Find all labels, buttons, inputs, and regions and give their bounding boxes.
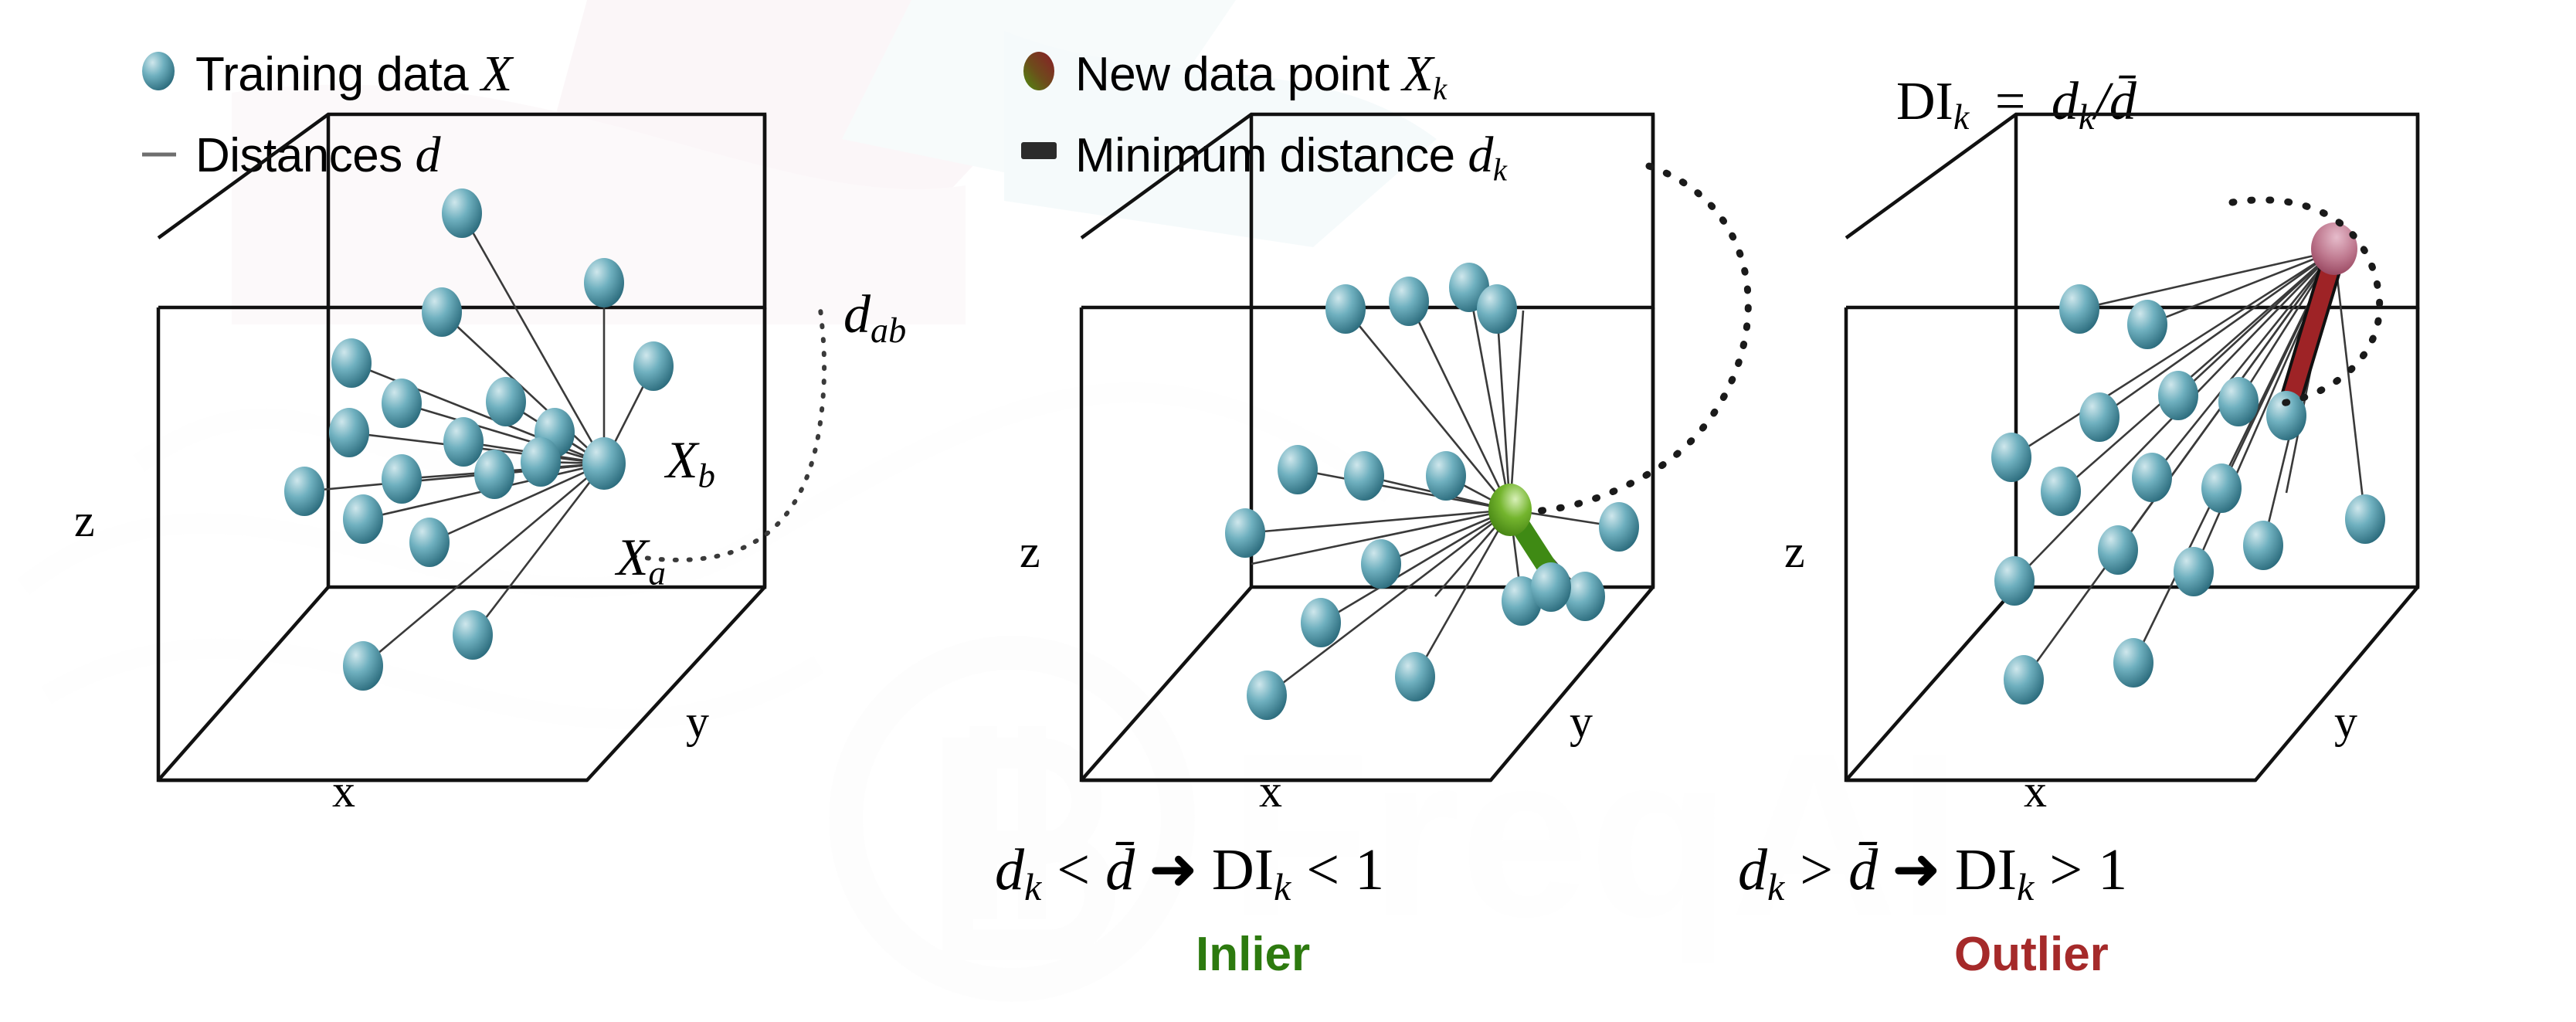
caption-outlier: Outlier: [1954, 927, 2109, 982]
inlier-arrow-icon: ➜: [1135, 837, 1212, 902]
inlier-relation-formula: dk<d̄➜DIk<1: [995, 834, 1384, 909]
outlier-points-group: [1991, 222, 2385, 705]
diagram-canvas: FreqAI: [0, 0, 2576, 1022]
outlier-relation-formula: dk>d̄➜DIk>1: [1738, 834, 2127, 909]
panel3-axis-label-x: x: [2024, 765, 2047, 818]
new-point-outlier: [2311, 222, 2357, 275]
panel3-axis-label-z: z: [1784, 525, 1805, 579]
panel3-axis-label-y: y: [2334, 695, 2357, 749]
caption-inlier: Inlier: [1196, 927, 1310, 982]
outlier-arrow-icon: ➜: [1878, 837, 1955, 902]
